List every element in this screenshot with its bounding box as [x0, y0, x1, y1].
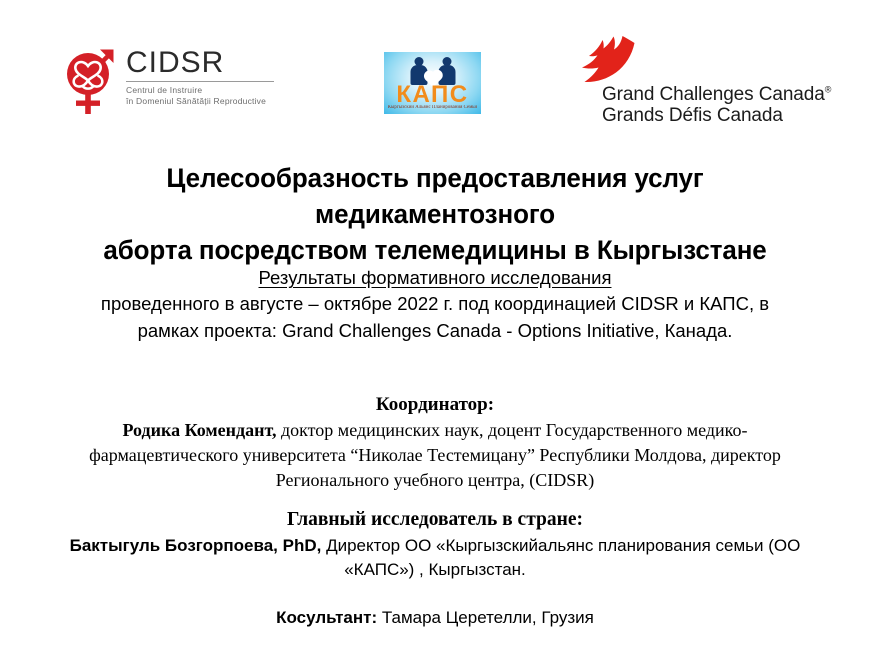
cidsr-subtitle: Centrul de Instruire în Domeniul Sănătăț…	[126, 85, 274, 108]
subtitle-heading: Результаты формативного исследования	[85, 265, 785, 291]
principal-investigator-entry: Бактыгуль Бозгорпоева, PhD, Директор ОО …	[60, 534, 810, 582]
subtitle-block: Результаты формативного исследования про…	[85, 265, 785, 344]
coordinator-label: Координатор:	[60, 392, 810, 418]
cidsr-divider	[126, 81, 274, 82]
gcc-line-english: Grand Challenges Canada®	[602, 84, 831, 105]
gcc-wordmark: Grand Challenges Canada® Grands Défis Ca…	[602, 84, 831, 127]
presentation-title-slide: CIDSR Centrul de Instruire în Domeniul S…	[0, 0, 870, 663]
principal-investigator-details: Директор ОО «Кыргызскийальянс планирован…	[321, 536, 800, 579]
maple-leaf-icon	[578, 34, 650, 86]
kaps-logo: КАПС Кыргызский Альянс Планирования Семь…	[384, 52, 481, 114]
gender-symbol-knot-icon	[62, 42, 118, 118]
consultant-label: Косультант:	[276, 608, 377, 627]
cidsr-name: CIDSR	[126, 48, 274, 78]
gcc-line-french: Grands Défis Canada	[602, 105, 831, 126]
subtitle-body: проведенного в августе – октябре 2022 г.…	[85, 291, 785, 344]
page-title-line-2: аборта посредством телемедицины в Кыргыз…	[54, 232, 816, 268]
coordinator-name: Родика Комендант,	[123, 420, 277, 440]
page-title-line-1: Целесообразность предоставления услуг ме…	[54, 160, 816, 232]
kaps-subtitle: Кыргызский Альянс Планирования Семьи	[386, 105, 478, 110]
consultant-value: Тамара Церетелли, Грузия	[377, 608, 594, 627]
cidsr-wordmark: CIDSR Centrul de Instruire în Domeniul S…	[126, 42, 274, 108]
cidsr-logo: CIDSR Centrul de Instruire în Domeniul S…	[62, 42, 274, 118]
credits-block: Координатор: Родика Комендант, доктор ме…	[60, 392, 810, 630]
logo-bar: CIDSR Centrul de Instruire în Domeniul S…	[0, 32, 870, 132]
principal-investigator-name: Бактыгуль Бозгорпоева, PhD,	[70, 536, 322, 555]
gcc-line1-text: Grand Challenges Canada	[602, 84, 825, 105]
kaps-wordmark: КАПС	[384, 83, 481, 107]
principal-investigator-label: Главный исследователь в стране:	[60, 507, 810, 534]
registered-trademark-icon: ®	[825, 85, 832, 95]
page-title: Целесообразность предоставления услуг ме…	[54, 160, 816, 268]
grand-challenges-canada-logo: Grand Challenges Canada® Grands Défis Ca…	[574, 34, 804, 130]
coordinator-entry: Родика Комендант, доктор медицинских нау…	[60, 418, 810, 492]
consultant-entry: Косультант: Тамара Церетелли, Грузия	[60, 606, 810, 630]
